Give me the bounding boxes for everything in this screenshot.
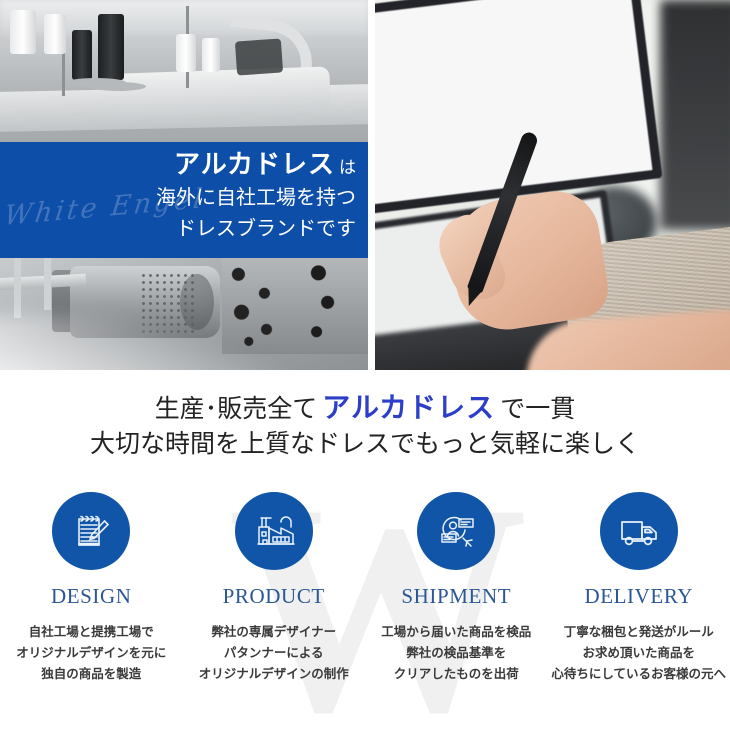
photo-shape-spool-base — [90, 82, 146, 91]
photo-shape-post — [44, 258, 51, 310]
section-headline: 生産･販売全てアルカドレスで一貫 大切な時間を上質なドレスでもっと気軽に楽しく — [0, 392, 730, 462]
photo-shape-spool — [72, 30, 92, 80]
brand-blue-banner: White Engel アルカドレスは 海外に自社工場を持つ ドレスブランドです — [0, 142, 368, 258]
shipment-title: SHIPMENT — [365, 584, 548, 609]
banner-brand-suffix: は — [339, 158, 356, 177]
left-photo-column: White Engel アルカドレスは 海外に自社工場を持つ ドレスブランドです — [0, 0, 368, 370]
headline-line-1: 生産･販売全てアルカドレスで一貫 — [0, 392, 730, 427]
design-desc-line: 独自の商品を製造 — [0, 664, 183, 685]
product-title: PRODUCT — [183, 584, 366, 609]
photo-shape-spool — [98, 14, 124, 80]
product-desc-line: パタンナーによる — [183, 643, 366, 664]
features-section: W 生産･販売全てアルカドレスで一貫 大切な時間を上質なドレスでもっと気軽に楽し… — [0, 370, 730, 731]
design-icon-circle — [52, 492, 130, 570]
photo-shape-holes — [300, 260, 346, 352]
product-description: 弊社の専属デザイナー パタンナーによる オリジナルデザインの制作 — [183, 622, 366, 685]
photo-shape-spool — [44, 14, 66, 54]
design-description: 自社工場と提携工場で オリジナルデザインを元に 独自の商品を製造 — [0, 622, 183, 685]
feature-columns: DESIGN 自社工場と提携工場で オリジナルデザインを元に 独自の商品を製造 — [0, 492, 730, 685]
banner-line-2: 海外に自社工場を持つ — [156, 183, 356, 214]
photo-shape-dark-panel — [660, 0, 730, 230]
photo-shape-head — [235, 38, 283, 75]
notepad-pencil-icon — [68, 508, 114, 554]
banner-text-block: アルカドレスは 海外に自社工場を持つ ドレスブランドです — [156, 150, 356, 245]
photo-shape-post — [14, 258, 21, 318]
delivery-icon-circle — [600, 492, 678, 570]
product-desc-line: 弊社の専属デザイナー — [183, 622, 366, 643]
photo-shape-spool — [176, 34, 196, 72]
product-desc-line: オリジナルデザインの制作 — [183, 664, 366, 685]
photo-shape-spool — [202, 38, 220, 72]
feature-delivery: DELIVERY 丁寧な梱包と発送がルール お求め頂いた商品を 心待ちにしている… — [548, 492, 730, 685]
delivery-desc-line: 心待ちにしているお客様の元へ — [548, 664, 730, 685]
headline-suffix: で一貫 — [500, 396, 575, 423]
industrial-machine-photo — [0, 258, 368, 370]
design-title: DESIGN — [0, 584, 183, 609]
delivery-desc-line: 丁寧な梱包と発送がルール — [548, 622, 730, 643]
sewing-machine-factory-photo — [0, 0, 368, 142]
photo-shape-spool — [10, 10, 36, 54]
shipment-description: 工場から届いた商品を検品 弊社の検品基準を クリアしたものを出荷 — [365, 622, 548, 685]
shipment-desc-line: 弊社の検品基準を — [365, 643, 548, 664]
delivery-truck-icon — [616, 508, 662, 554]
headline-line-2: 大切な時間を上質なドレスでもっと気軽に楽しく — [0, 427, 730, 462]
design-desc-line: オリジナルデザインを元に — [0, 643, 183, 664]
photo-shape-body — [119, 66, 330, 115]
hero-photo-section: White Engel アルカドレスは 海外に自社工場を持つ ドレスブランドです — [0, 0, 730, 370]
banner-line-3: ドレスブランドです — [156, 214, 356, 245]
delivery-description: 丁寧な梱包と発送がルール お求め頂いた商品を 心待ちにしているお客様の元へ — [548, 622, 730, 685]
banner-line-1: アルカドレスは — [156, 150, 356, 183]
photo-shape-fog — [0, 314, 280, 370]
feature-shipment: SHIPMENT 工場から届いた商品を検品 弊社の検品基準を クリアしたものを出… — [365, 492, 548, 685]
shipment-icon-circle — [417, 492, 495, 570]
inspection-person-icon — [433, 508, 479, 554]
headline-brand-name: アルカドレス — [317, 393, 500, 424]
product-icon-circle — [235, 492, 313, 570]
shipment-desc-line: クリアしたものを出荷 — [365, 664, 548, 685]
delivery-title: DELIVERY — [548, 584, 730, 609]
headline-prefix: 生産･販売全て — [155, 396, 318, 423]
banner-brand-name: アルカドレス — [174, 150, 335, 179]
shipment-desc-line: 工場から届いた商品を検品 — [365, 622, 548, 643]
feature-product: PRODUCT 弊社の専属デザイナー パタンナーによる オリジナルデザインの制作 — [183, 492, 366, 685]
factory-icon — [251, 508, 297, 554]
design-desc-line: 自社工場と提携工場で — [0, 622, 183, 643]
delivery-desc-line: お求め頂いた商品を — [548, 643, 730, 664]
designer-stylus-tablet-photo — [375, 0, 730, 370]
feature-design: DESIGN 自社工場と提携工場で オリジナルデザインを元に 独自の商品を製造 — [0, 492, 183, 685]
